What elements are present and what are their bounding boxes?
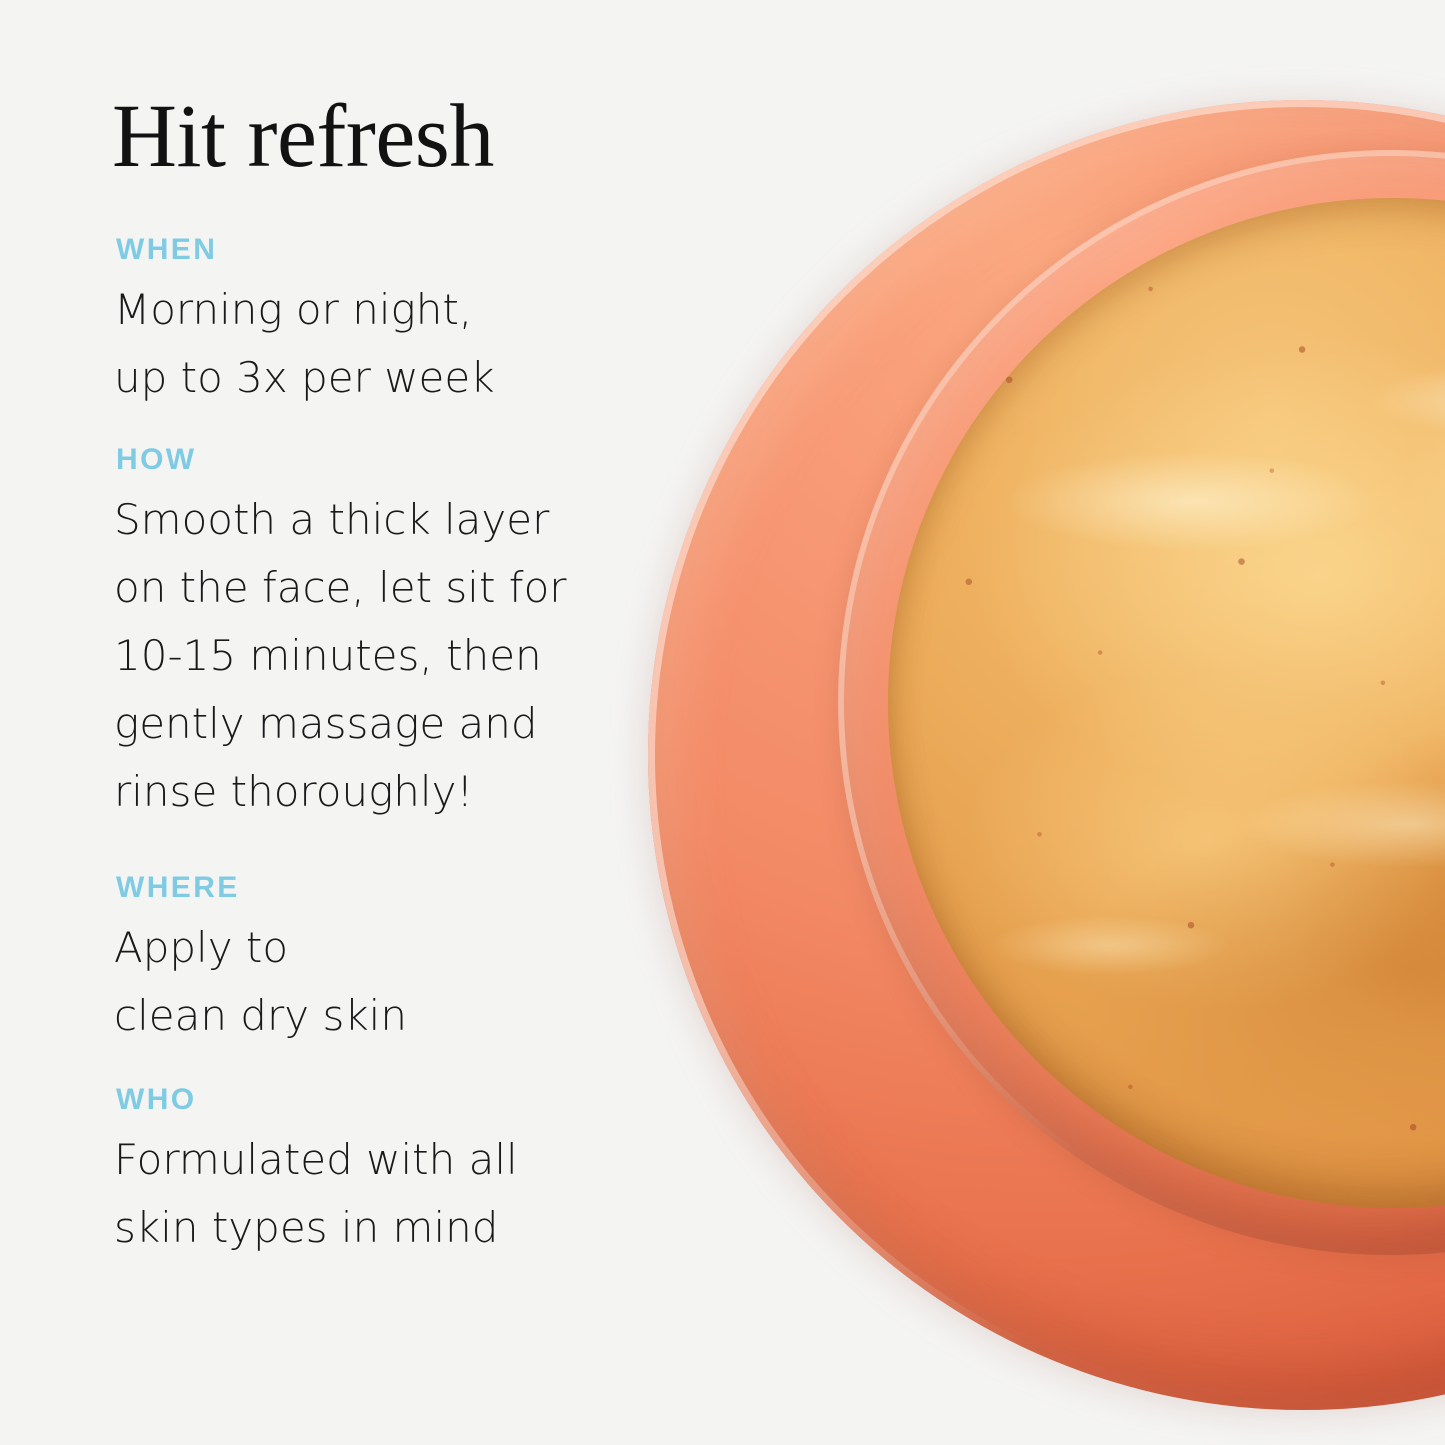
section-how: HOW Smooth a thick layer on the face, le… bbox=[114, 442, 594, 826]
section-who: WHO Formulated with all skin types in mi… bbox=[114, 1082, 594, 1262]
section-body-when: Morning or night, up to 3x per week bbox=[114, 276, 594, 412]
section-label-who: WHO bbox=[116, 1082, 594, 1118]
section-body-who: Formulated with all skin types in mind bbox=[114, 1126, 594, 1262]
section-body-how: Smooth a thick layer on the face, let si… bbox=[114, 486, 594, 826]
section-where: WHERE Apply to clean dry skin bbox=[114, 870, 594, 1050]
text-column: Hit refresh WHEN Morning or night, up to… bbox=[0, 0, 600, 1445]
section-body-where: Apply to clean dry skin bbox=[114, 914, 594, 1050]
page-title: Hit refresh bbox=[112, 92, 494, 182]
product-instructions-graphic: Hit refresh WHEN Morning or night, up to… bbox=[0, 0, 1445, 1445]
product-exfoliant-flecks bbox=[888, 198, 1445, 1208]
product-photo bbox=[600, 0, 1445, 1445]
section-when: WHEN Morning or night, up to 3x per week bbox=[114, 232, 594, 412]
face-mask-product bbox=[888, 198, 1445, 1208]
section-label-when: WHEN bbox=[116, 232, 594, 268]
instruction-sections: WHEN Morning or night, up to 3x per week… bbox=[114, 232, 594, 1262]
section-label-where: WHERE bbox=[116, 870, 594, 906]
section-label-how: HOW bbox=[116, 442, 594, 478]
